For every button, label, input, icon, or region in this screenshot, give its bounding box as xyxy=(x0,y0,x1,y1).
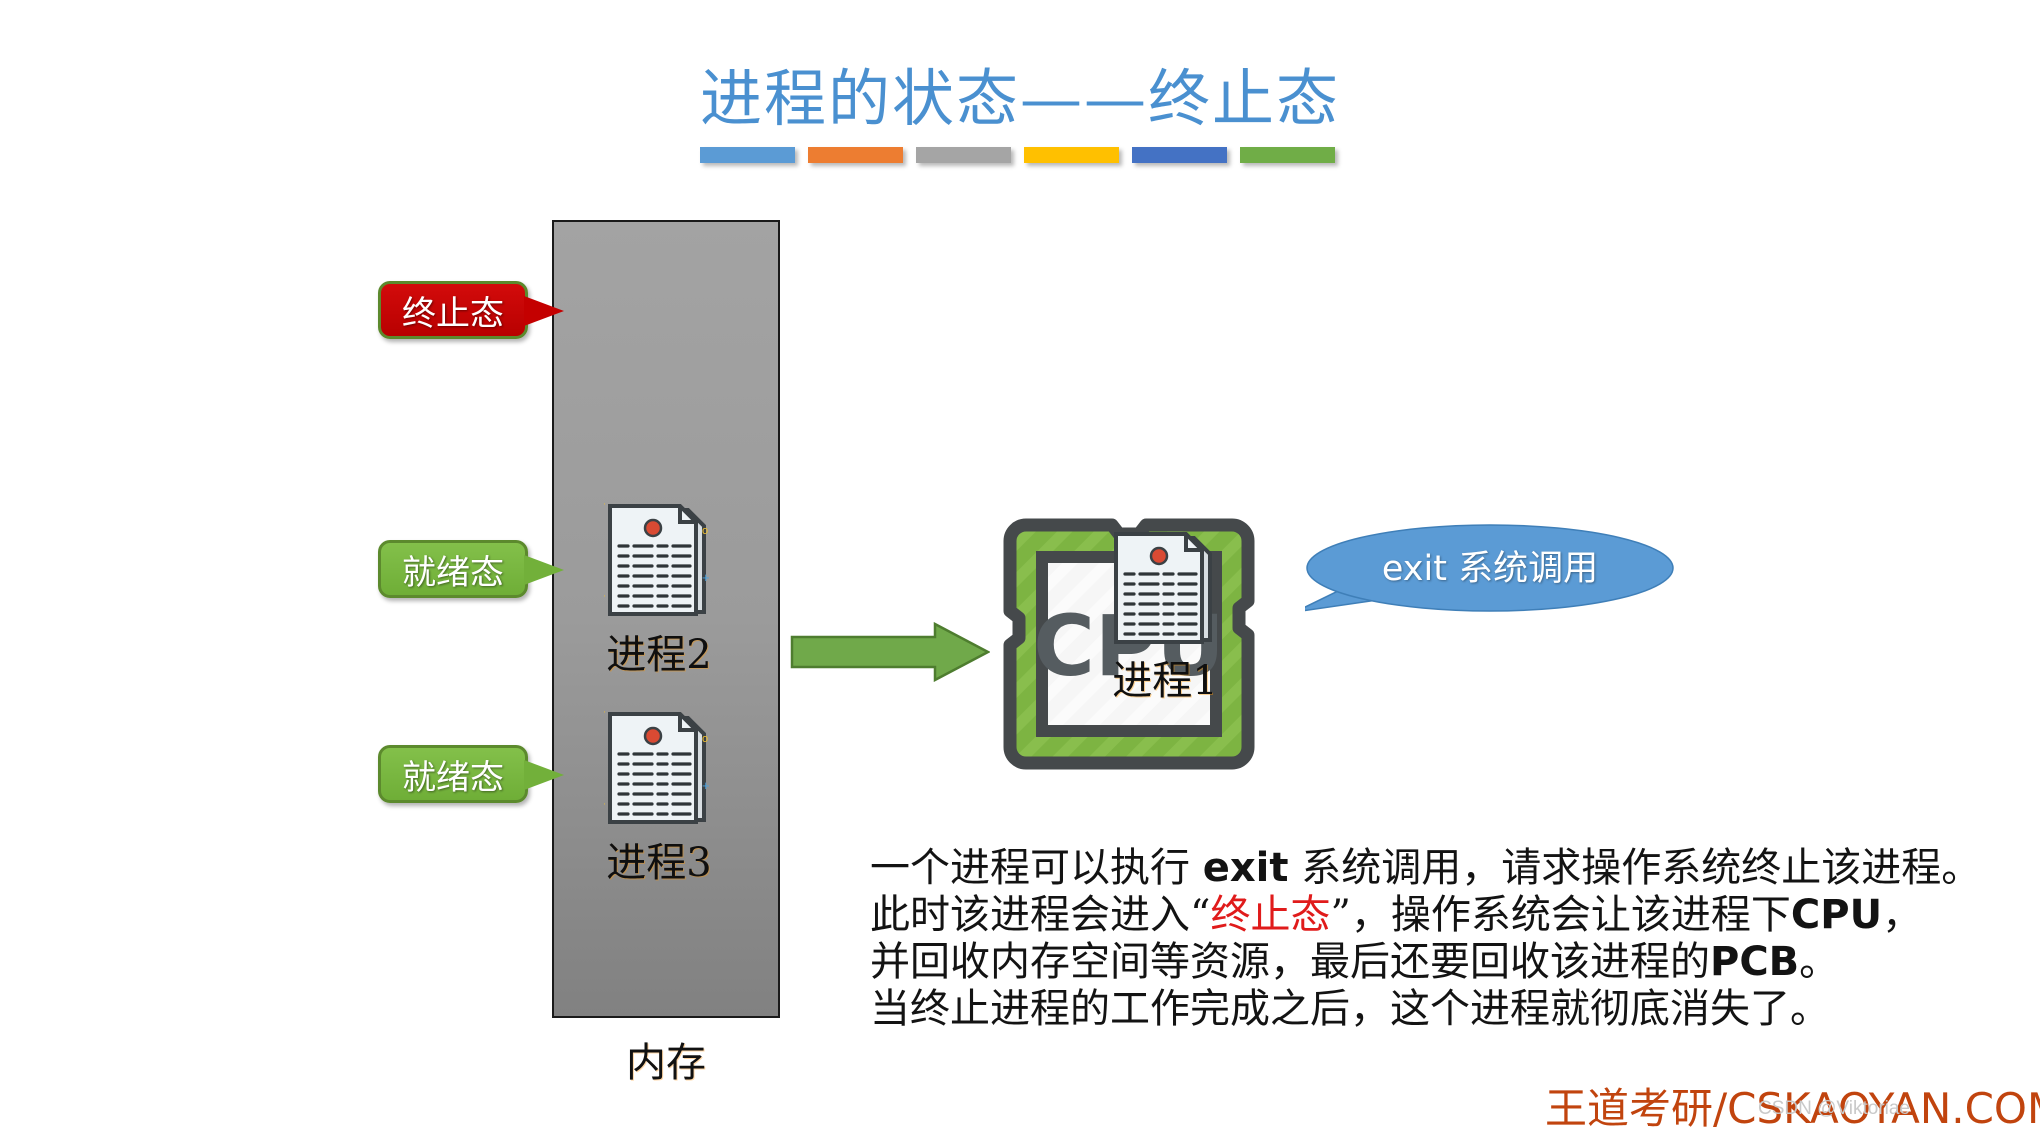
callout-ready-1-tail xyxy=(524,555,564,585)
page-title: 进程的状态——终止态 xyxy=(0,48,2040,138)
process-2-icon-group: + o + o + 进程2 xyxy=(604,502,714,622)
svg-text:+: + xyxy=(702,570,710,585)
memory-label: 内存 xyxy=(552,1030,780,1088)
document-icon xyxy=(1110,530,1220,650)
callout-ready-2-label: 就绪态 xyxy=(402,750,504,799)
process-2-label: 进程2 xyxy=(604,622,714,680)
callout-terminated-tail xyxy=(524,296,564,326)
text-segment-cpu: CPU xyxy=(1791,892,1882,938)
text-segment-exit: exit xyxy=(1203,845,1289,891)
svg-text:+: + xyxy=(604,796,606,811)
svg-text:o: o xyxy=(702,733,708,745)
accent-bar-navy xyxy=(1132,147,1227,163)
title-accent-bars xyxy=(700,147,1335,163)
accent-bar-orange xyxy=(808,147,903,163)
text-segment: 此时该进程会进入“ xyxy=(870,892,1210,938)
accent-bar-yellow xyxy=(1024,147,1119,163)
svg-text:+: + xyxy=(604,502,606,511)
text-segment: 一个进程可以执行 xyxy=(870,845,1203,891)
callout-terminated-label: 终止态 xyxy=(402,286,504,335)
accent-bar-blue xyxy=(700,147,795,163)
text-segment: ， xyxy=(1882,892,1922,938)
text-segment: 。 xyxy=(1799,939,1839,985)
text-segment-highlight: 终止态 xyxy=(1210,892,1330,938)
callout-terminated: 终止态 xyxy=(378,281,528,339)
callout-ready-1: 就绪态 xyxy=(378,540,528,598)
text-segment: 系统调用，请求操作系统终止该进程。 xyxy=(1288,845,1981,891)
process-1-icon-group: 进程1 xyxy=(1110,530,1220,650)
svg-text:+: + xyxy=(604,710,606,719)
slide-canvas: 进程的状态——终止态 内存 终止态 就绪态 就绪态 xyxy=(0,0,2040,1140)
text-segment: ”，操作系统会让该进程下 xyxy=(1330,892,1790,938)
svg-text:o: o xyxy=(702,525,708,537)
document-icon: + o + o + xyxy=(604,502,714,622)
transition-arrow xyxy=(790,622,990,682)
explanation-line-2: 此时该进程会进入“终止态”，操作系统会让该进程下CPU， xyxy=(870,892,1981,939)
svg-text:+: + xyxy=(604,588,606,603)
accent-bar-gray xyxy=(916,147,1011,163)
explanation-text: 一个进程可以执行 exit 系统调用，请求操作系统终止该进程。 此时该进程会进入… xyxy=(870,845,1981,1033)
explanation-line-1: 一个进程可以执行 exit 系统调用，请求操作系统终止该进程。 xyxy=(870,845,1981,892)
document-icon: + o + o + xyxy=(604,710,714,830)
process-3-icon-group: + o + o + 进程3 xyxy=(604,710,714,830)
svg-text:+: + xyxy=(702,778,710,793)
process-1-label: 进程1 xyxy=(1110,648,1220,706)
callout-ready-1-label: 就绪态 xyxy=(402,545,504,594)
text-segment-pcb: PCB xyxy=(1710,939,1799,985)
callout-ready-2-tail xyxy=(524,760,564,790)
callout-ready-2: 就绪态 xyxy=(378,745,528,803)
text-segment: 当终止进程的工作完成之后，这个进程就彻底消失了。 xyxy=(870,986,1830,1032)
csdn-watermark: CSDN @Viktoriae xyxy=(1758,1098,1910,1120)
explanation-line-4: 当终止进程的工作完成之后，这个进程就彻底消失了。 xyxy=(870,986,1981,1033)
process-3-label: 进程3 xyxy=(604,830,714,888)
exit-syscall-bubble xyxy=(1305,520,1675,635)
text-segment: 并回收内存空间等资源，最后还要回收该进程的 xyxy=(870,939,1710,985)
accent-bar-green xyxy=(1240,147,1335,163)
explanation-line-3: 并回收内存空间等资源，最后还要回收该进程的PCB。 xyxy=(870,939,1981,986)
